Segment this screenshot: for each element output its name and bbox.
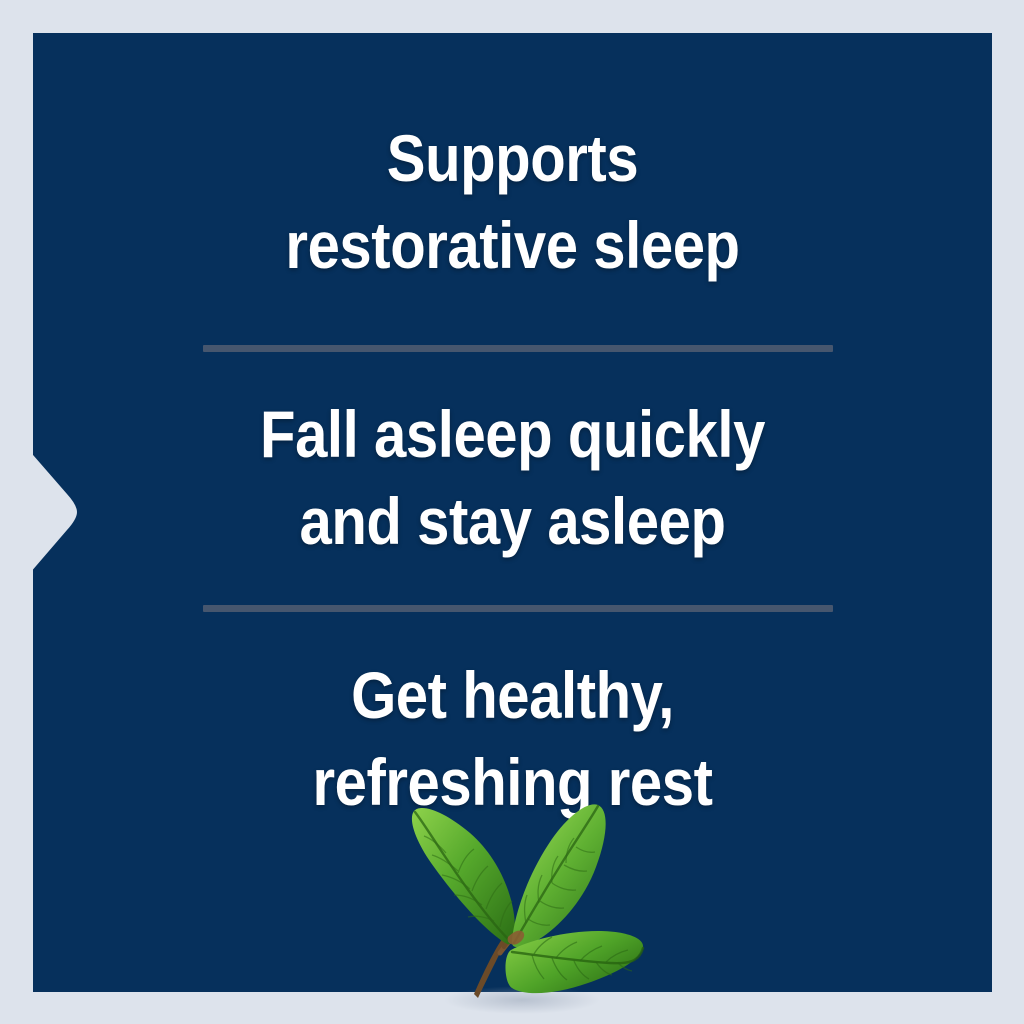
navy-benefits-panel: Supports restorative sleep Fall asleep q… [33, 33, 992, 992]
divider-rule-1 [203, 345, 833, 352]
benefit-item-healthy-rest: Get healthy, refreshing rest [91, 652, 935, 826]
infographic-canvas: Supports restorative sleep Fall asleep q… [0, 0, 1024, 1024]
benefits-list: Supports restorative sleep Fall asleep q… [33, 33, 992, 992]
benefit-item-restorative-sleep: Supports restorative sleep [91, 115, 935, 289]
benefit-item-fall-asleep: Fall asleep quickly and stay asleep [91, 391, 935, 565]
divider-rule-2 [203, 605, 833, 612]
